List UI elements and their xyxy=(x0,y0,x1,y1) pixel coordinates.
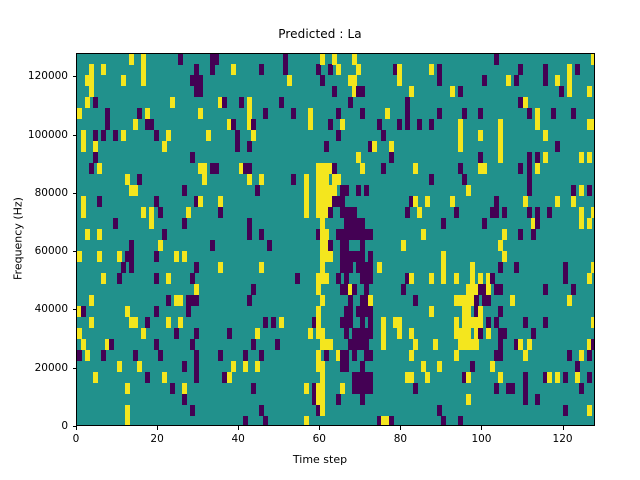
y-tick-label: 0 xyxy=(61,420,68,432)
x-tick-mark xyxy=(157,426,158,430)
x-tick-label: 20 xyxy=(150,433,163,445)
figure-canvas: Predicted : La 0200004000060000800001000… xyxy=(0,0,640,480)
y-axis-label: Frequency (Hz) xyxy=(12,129,25,349)
x-tick-mark xyxy=(319,426,320,430)
x-axis-label: Time step xyxy=(0,453,640,466)
y-tick-mark xyxy=(73,135,77,136)
x-tick-label: 100 xyxy=(471,433,491,445)
x-tick-label: 80 xyxy=(394,433,407,445)
x-tick-mark xyxy=(238,426,239,430)
y-tick-mark xyxy=(73,193,77,194)
y-tick-mark xyxy=(73,251,77,252)
y-tick-label: 80000 xyxy=(35,187,68,199)
x-tick-label: 120 xyxy=(553,433,573,445)
x-tick-mark xyxy=(563,426,564,430)
y-tick-label: 120000 xyxy=(28,70,68,82)
y-tick-label: 100000 xyxy=(28,129,68,141)
y-tick-mark xyxy=(73,309,77,310)
y-tick-mark xyxy=(73,76,77,77)
y-axis-tick-labels: 020000400006000080000100000120000 xyxy=(0,0,68,480)
y-tick-label: 20000 xyxy=(35,362,68,374)
x-tick-label: 0 xyxy=(73,433,80,445)
page-title: Predicted : La xyxy=(0,27,640,41)
y-tick-label: 60000 xyxy=(35,245,68,257)
y-tick-mark xyxy=(73,368,77,369)
heatmap-image xyxy=(77,54,595,426)
x-tick-label: 40 xyxy=(232,433,245,445)
x-tick-mark xyxy=(76,426,77,430)
heatmap-plot-area xyxy=(76,53,595,426)
x-tick-label: 60 xyxy=(313,433,326,445)
x-tick-mark xyxy=(481,426,482,430)
x-tick-mark xyxy=(400,426,401,430)
y-tick-label: 40000 xyxy=(35,303,68,315)
